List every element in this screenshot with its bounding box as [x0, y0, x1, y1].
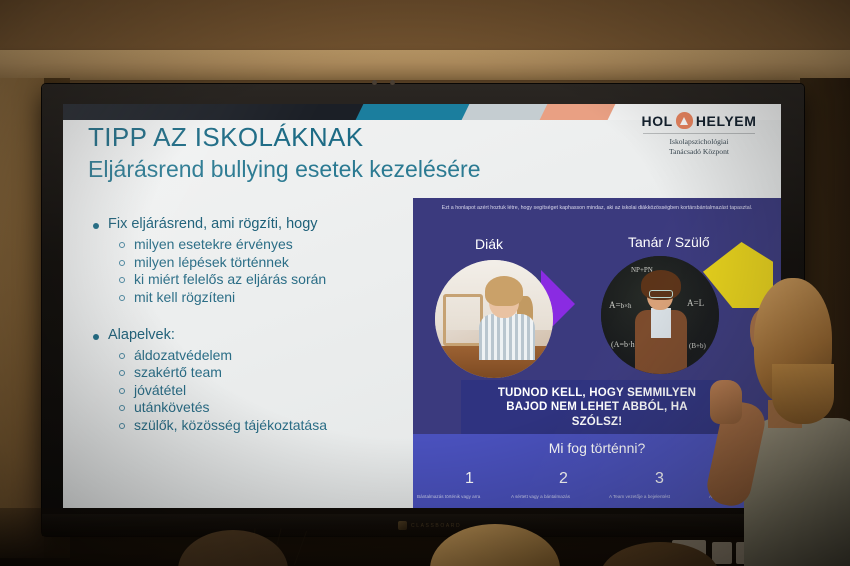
- sub-bullet: milyen esetekre érvényes: [119, 236, 433, 252]
- glasses-icon: [649, 290, 673, 298]
- bullet-ring-icon: [119, 423, 125, 429]
- sub-bullet: ki miért felelős az eljárás során: [119, 271, 433, 287]
- sub-bullet: mit kell rögzíteni: [119, 289, 433, 305]
- bullet-ring-icon: [119, 353, 125, 359]
- bullet-ring-icon: [119, 242, 125, 248]
- sub-bullet: szülők, közösség tájékoztatása: [119, 417, 433, 433]
- teacher-photo: A=b×h A=L (A=b·h) (B+b) NP+PN: [601, 256, 719, 374]
- logo-word-left: HOL: [641, 113, 672, 129]
- bullet-group-1: Fix eljárásrend, ami rögzíti, hogy milye…: [93, 216, 433, 305]
- sub-bullet: jóvátétel: [119, 382, 433, 398]
- slide-title: TIPP AZ ISKOLÁKNAK: [88, 122, 364, 153]
- bullet-heading-text: Fix eljárásrend, ami rögzíti, hogy: [108, 216, 318, 232]
- bullet-dot-icon: [93, 334, 99, 340]
- classroom-presentation-photo: TIPP AZ ISKOLÁKNAK Eljárásrend bullying …: [0, 0, 850, 566]
- sub-bullet: szakértő team: [119, 364, 433, 380]
- logo-wordmark: HOL HELYEM: [629, 112, 769, 129]
- logo-divider: [643, 133, 755, 134]
- logo-word-right: HELYEM: [696, 113, 757, 129]
- column-title-student: Diák: [475, 236, 503, 252]
- presenter-hand: [710, 380, 742, 424]
- ceiling: [0, 0, 850, 52]
- step-caption-2: A sértett vagy a bántalmazás: [511, 494, 570, 499]
- wall-outlet: [712, 542, 732, 564]
- bullet-heading: Fix eljárásrend, ami rögzíti, hogy: [93, 216, 433, 232]
- organization-logo: HOL HELYEM Iskolapszichológiai Tanácsadó…: [629, 112, 769, 158]
- column-title-teacher-parent: Tanár / Szülő: [628, 234, 710, 250]
- sub-bullet-text: jóvátétel: [134, 382, 186, 398]
- logo-subtitle-line2: Tanácsadó Központ: [629, 147, 769, 157]
- slide-bullet-list: Fix eljárásrend, ami rögzíti, hogy milye…: [93, 216, 433, 434]
- sub-bullet-text: milyen esetekre érvényes: [134, 236, 293, 252]
- sub-bullet: áldozatvédelem: [119, 347, 433, 363]
- presenter: [748, 268, 850, 566]
- stripe-teal: [353, 104, 476, 120]
- bullet-dot-icon: [93, 223, 99, 229]
- stripe-dark: [63, 104, 369, 120]
- banner-line-2: BAJOD NEM LEHET ABBÓL, HA: [461, 400, 733, 414]
- bullet-ring-icon: [119, 405, 125, 411]
- house-pin-icon: [676, 112, 693, 129]
- stripe-gray: [459, 104, 554, 120]
- sub-bullet-text: utánkövetés: [134, 399, 210, 415]
- step-caption-3: A Team vezetője a bejelentést: [609, 494, 670, 499]
- sub-bullet-text: ki miért felelős az eljárás során: [134, 271, 326, 287]
- bullet-ring-icon: [119, 260, 125, 266]
- bullet-ring-icon: [119, 295, 125, 301]
- student-photo: [435, 260, 553, 378]
- sub-bullet: milyen lépések történnek: [119, 254, 433, 270]
- bezel-screw: [372, 80, 377, 85]
- bullet-group-2: Alapelvek: áldozatvédelem szakértő team …: [93, 327, 433, 433]
- chalk-formula: A=b×h: [609, 300, 632, 310]
- step-number-2: 2: [559, 470, 568, 488]
- presenter-hair-back: [772, 364, 834, 424]
- website-banner: TUDNOD KELL, HOGY SEMMILYEN BAJOD NEM LE…: [461, 380, 733, 436]
- sub-bullet: utánkövetés: [119, 399, 433, 415]
- step-number-3: 3: [655, 470, 664, 488]
- step-number-1: 1: [465, 470, 474, 488]
- student-hair: [485, 276, 523, 306]
- logo-subtitle-line1: Iskolapszichológiai: [629, 137, 769, 147]
- sub-bullet-text: milyen lépések történnek: [134, 254, 289, 270]
- slide-subtitle: Eljárásrend bullying esetek kezelésére: [88, 156, 481, 183]
- chair: [443, 294, 483, 346]
- student-body: [479, 314, 535, 360]
- bullet-ring-icon: [119, 388, 125, 394]
- sub-bullet-text: mit kell rögzíteni: [134, 289, 235, 305]
- bullet-heading-text: Alapelvek:: [108, 327, 175, 343]
- ceiling-trim: [0, 50, 850, 80]
- bezel-screw: [390, 80, 395, 85]
- banner-line-1: TUDNOD KELL, HOGY SEMMILYEN: [461, 386, 733, 400]
- chalk-formula: (A=b·h): [611, 340, 637, 349]
- step-caption-1: Bántalmazás történik vagy arra: [417, 494, 480, 499]
- banner-line-3: SZÓLSZ!: [461, 415, 733, 429]
- sub-bullet-text: szakértő team: [134, 364, 222, 380]
- sub-bullet-text: szülők, közösség tájékoztatása: [134, 417, 327, 433]
- chalk-formula: A=L: [687, 298, 704, 308]
- sub-bullet-text: áldozatvédelem: [134, 347, 232, 363]
- bullet-ring-icon: [119, 370, 125, 376]
- presentation-slide: TIPP AZ ISKOLÁKNAK Eljárásrend bullying …: [63, 104, 781, 508]
- teacher-shirt: [651, 308, 671, 338]
- chalk-formula: (B+b): [689, 342, 706, 350]
- bullet-heading: Alapelvek:: [93, 327, 433, 343]
- website-intro-text: Ezt a honlapot azért hoztuk létre, hogy …: [437, 204, 757, 212]
- bullet-ring-icon: [119, 277, 125, 283]
